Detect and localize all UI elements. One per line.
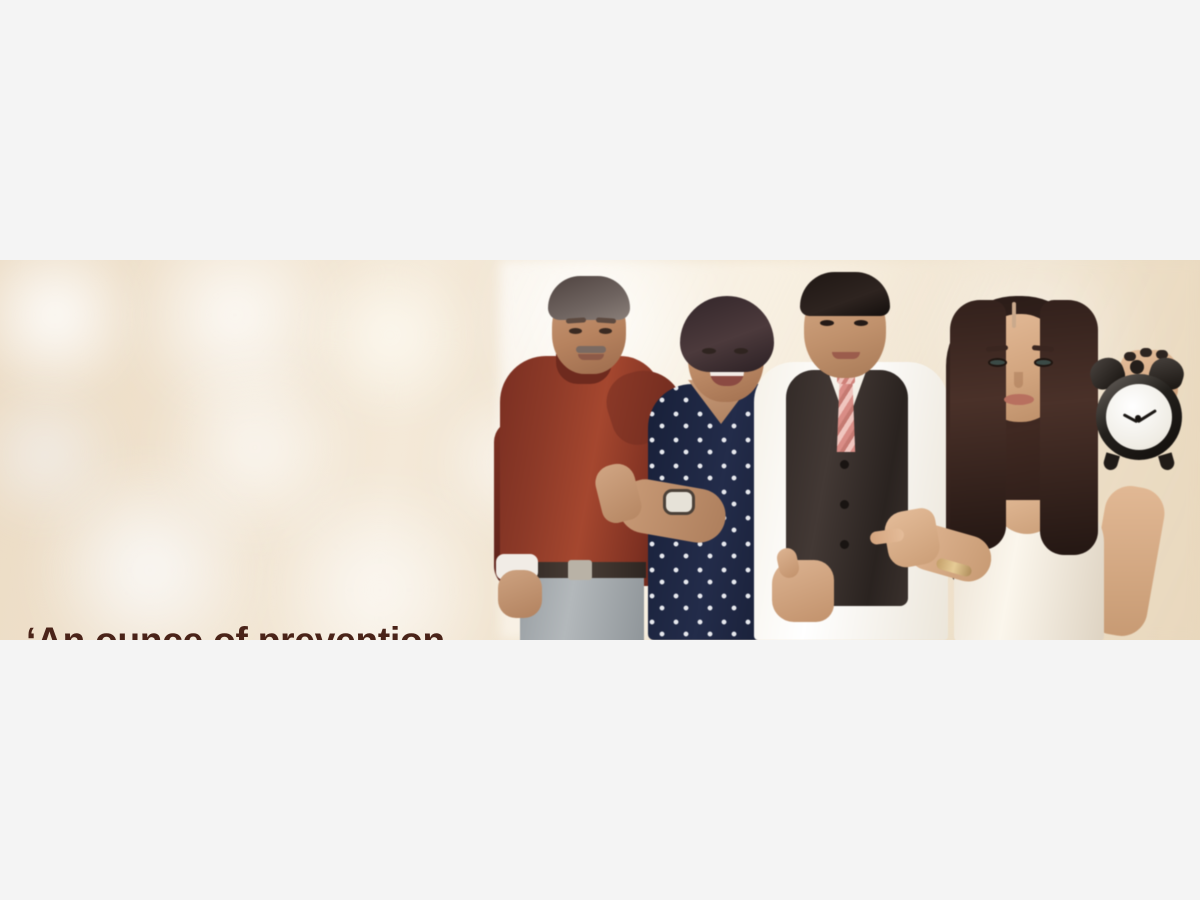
young-woman-hair-part [1012, 302, 1016, 328]
young-woman-nose [1014, 372, 1023, 388]
senior-man-left-hand [498, 570, 542, 618]
young-man-eye-left [820, 320, 834, 326]
young-woman-eye-left [988, 358, 1007, 367]
alarm-clock-icon [1086, 358, 1194, 476]
young-woman-lips [1004, 394, 1034, 405]
young-man-hair [800, 272, 890, 316]
young-woman-fingernail-2 [1140, 348, 1152, 357]
senior-man-hair [548, 276, 630, 320]
senior-man-mouth [578, 354, 604, 360]
prevention-quote-banner: ‘An ounce of prevention is worth a pound… [0, 260, 1200, 640]
group-photo [0, 260, 1200, 640]
senior-woman-eye-left [702, 348, 716, 354]
young-woman-hair-left [950, 300, 1006, 550]
quote-line-1: ‘An ounce of prevention [26, 612, 546, 640]
alarm-clock-foot-right [1158, 452, 1176, 471]
senior-man-belt-buckle [568, 560, 592, 580]
senior-woman-eye-right [734, 348, 748, 354]
person-young-man [752, 266, 952, 640]
alarm-clock-foot-left [1102, 452, 1120, 471]
young-man-vest-button-1 [840, 460, 849, 469]
senior-woman-wristwatch [666, 492, 692, 512]
young-woman-eye-right [1034, 358, 1053, 367]
page-root: ‘An ounce of prevention is worth a pound… [0, 0, 1200, 900]
young-man-vest-button-3 [840, 540, 849, 549]
young-man-vest-button-2 [840, 500, 849, 509]
senior-man-eye-left [569, 328, 582, 334]
young-man-smile [832, 352, 860, 359]
young-man-eye-right [854, 320, 868, 326]
alarm-clock-center-pin [1135, 415, 1141, 421]
senior-man-eye-right [599, 328, 612, 334]
quote-block: ‘An ounce of prevention is worth a pound… [26, 612, 546, 640]
alarm-clock-hammer [1130, 360, 1144, 374]
senior-man-moustache [576, 346, 606, 353]
